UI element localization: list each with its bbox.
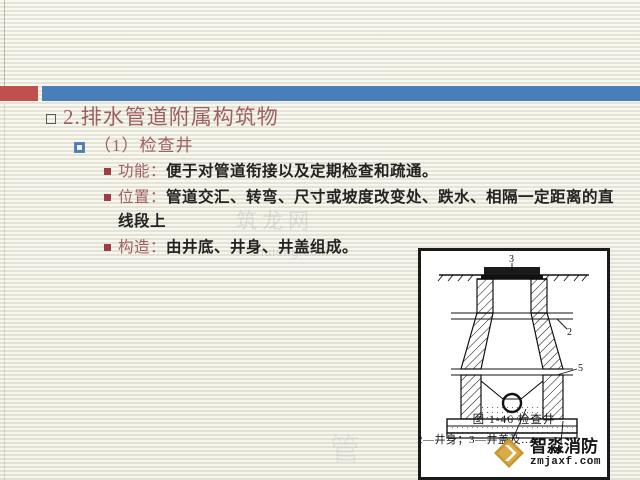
red-square-bullet-icon <box>104 244 111 251</box>
diamond-arrow-logo-icon <box>492 436 526 470</box>
background-watermark-line3: 管 <box>330 425 363 469</box>
svg-text:3: 3 <box>509 254 514 265</box>
banner-accent-blue <box>42 86 640 101</box>
outline-level3-item-location: 位置：管道交汇、转弯、尺寸或坡度改变处、跌水、相隔一定距离的直线段上 <box>104 186 624 234</box>
bullet-label-function: 功能： <box>118 163 166 180</box>
presentation-slide: 筑龙网 zhulong.com 管 2.排水管道附属构筑物 （1）检查井 功能：… <box>0 0 640 480</box>
watermark-brand-name: 智淼消防 <box>530 438 601 455</box>
outline-level3-item-function: 功能：便于对管道衔接以及定期检查和疏通。 <box>104 160 624 184</box>
subsection-heading: （1）检查井 <box>94 134 194 158</box>
hollow-square-bullet-icon <box>46 114 56 124</box>
bullet-body-location: 管道交汇、转弯、尺寸或坡度改变处、跌水、相隔一定距离的直线段上 <box>118 189 614 230</box>
outline-level2-item: （1）检查井 <box>74 134 640 158</box>
slide-title: 2.排水管道附属构筑物 <box>63 104 279 131</box>
slide-content: 2.排水管道附属构筑物 （1）检查井 功能：便于对管道衔接以及定期检查和疏通。 … <box>0 104 640 261</box>
left-margin-rule <box>4 0 5 96</box>
watermark-url: zmjaxf.com <box>530 457 601 468</box>
bullet-body-function: 便于对管道衔接以及定期检查和疏通。 <box>166 163 438 180</box>
red-square-bullet-icon <box>104 194 111 201</box>
bullet-label-location: 位置： <box>118 189 166 206</box>
outline-level1-item: 2.排水管道附属构筑物 <box>46 104 640 131</box>
svg-text:2: 2 <box>567 327 572 338</box>
figure-caption: 图 1-46 检查井 <box>421 411 607 427</box>
banner-accent-red <box>0 86 38 101</box>
bullet-body-structure: 由井底、井身、井盖组成。 <box>166 239 358 256</box>
svg-text:5: 5 <box>578 363 583 374</box>
red-square-bullet-icon <box>104 168 111 175</box>
site-watermark: 智淼消防 zmjaxf.com <box>492 436 601 470</box>
watermark-text-block: 智淼消防 zmjaxf.com <box>530 438 601 468</box>
blue-square-bullet-icon <box>74 142 85 153</box>
header-banner <box>0 86 640 101</box>
bullet-label-structure: 构造： <box>118 239 166 256</box>
